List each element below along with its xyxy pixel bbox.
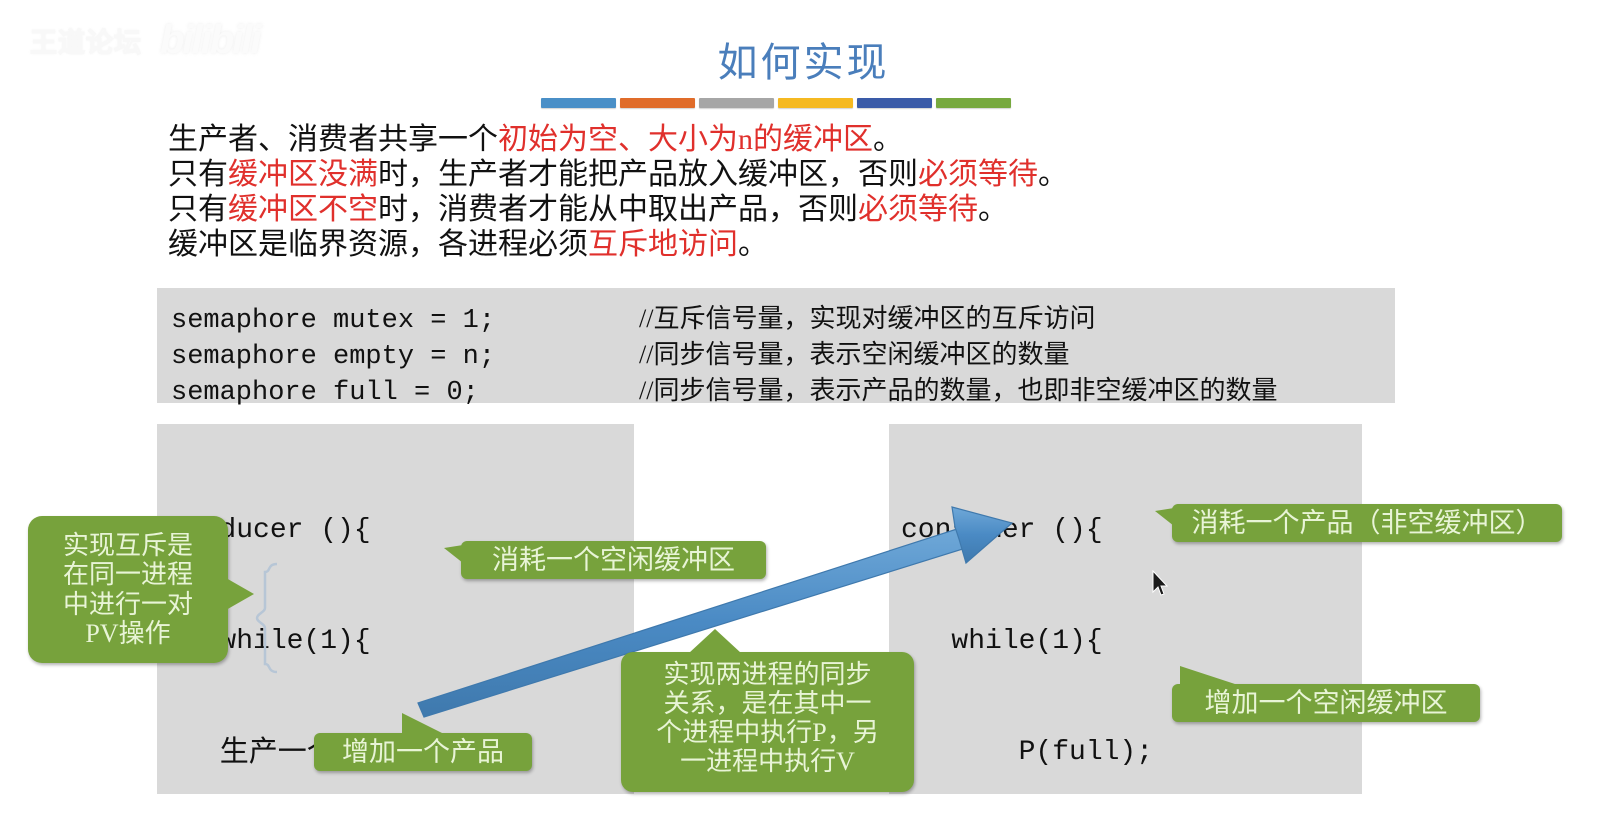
consumer-line-2: P(full); (901, 734, 1362, 771)
callout-consume-product: 消耗一个产品（非空缓冲区） (1172, 504, 1562, 542)
callout-mutex-line-1: 实现互斥是 (63, 531, 193, 560)
mutex-pair-brace-icon (253, 562, 279, 674)
semaphore-row-mutex: semaphore mutex = 1;//互斥信号量，实现对缓冲区的互斥访问 (171, 298, 1095, 336)
description-line-1: 生产者、消费者共享一个初始为空、大小为n的缓冲区。 (168, 122, 1068, 157)
semaphore-code-full: semaphore full = 0; (171, 378, 639, 408)
callout-tail (402, 713, 444, 734)
callout-mutex-line-3: 中进行一对 (63, 590, 193, 619)
semaphore-code-empty: semaphore empty = n; (171, 342, 639, 372)
callout-tail (1180, 666, 1238, 685)
callout-sync-line-3: 个进程中执行P，另 (656, 718, 878, 747)
semaphore-row-full: semaphore full = 0;//同步信号量，表示产品的数量，也即非空缓… (171, 370, 1277, 408)
callout-sync-explanation: 实现两进程的同步 关系，是在其中一 个进程中执行P，另 一进程中执行V (621, 652, 914, 792)
callout-tail (689, 629, 741, 653)
accent-bar-5 (857, 98, 932, 108)
accent-bar-3 (699, 98, 774, 108)
accent-bar-4 (778, 98, 853, 108)
callout-sync-line-4: 一进程中执行V (656, 747, 878, 776)
callout-full-label: 消耗一个产品（非空缓冲区） (1192, 508, 1543, 538)
consumer-code-block: consumer (){ while(1){ P(full); P(mutex)… (889, 424, 1362, 794)
semaphore-comment-empty: //同步信号量，表示空闲缓冲区的数量 (639, 340, 1069, 369)
semaphore-row-empty: semaphore empty = n;//同步信号量，表示空闲缓冲区的数量 (171, 334, 1069, 372)
callout-tail (1155, 508, 1174, 526)
callout-add-product-label: 增加一个产品 (342, 737, 504, 767)
title-accent-bars (541, 98, 1011, 108)
mouse-cursor-icon (1152, 570, 1172, 600)
producer-line-1: while(1){ (169, 623, 634, 660)
accent-bar-1 (541, 98, 616, 108)
callout-sync-line-1: 实现两进程的同步 (656, 660, 878, 689)
description-line-2: 只有缓冲区没满时，生产者才能把产品放入缓冲区，否则必须等待。 (168, 157, 1068, 192)
callout-mutex-line-2: 在同一进程 (63, 560, 193, 589)
semaphore-comment-mutex: //互斥信号量，实现对缓冲区的互斥访问 (639, 304, 1095, 333)
callout-free-label: 增加一个空闲缓冲区 (1205, 688, 1448, 718)
callout-tail (444, 545, 463, 563)
callout-mutex-line-4: PV操作 (63, 619, 193, 648)
description-line-3: 只有缓冲区不空时，消费者才能从中取出产品，否则必须等待。 (168, 192, 1068, 227)
callout-tail (226, 578, 254, 610)
callout-add-free-buffer: 增加一个空闲缓冲区 (1172, 684, 1480, 722)
callout-empty-label: 消耗一个空闲缓冲区 (492, 545, 735, 575)
consumer-line-1: while(1){ (901, 623, 1362, 660)
page-title: 如何实现 (0, 30, 1607, 88)
semaphore-code-mutex: semaphore mutex = 1; (171, 306, 639, 336)
accent-bar-6 (936, 98, 1011, 108)
slide-canvas: 王道论坛 bilibili 如何实现 生产者、消费者共享一个初始为空、大小为n的… (0, 0, 1607, 834)
callout-mutex-explanation: 实现互斥是 在同一进程 中进行一对 PV操作 (28, 516, 228, 663)
callout-sync-line-2: 关系，是在其中一 (656, 689, 878, 718)
semaphore-comment-full: //同步信号量，表示产品的数量，也即非空缓冲区的数量 (639, 376, 1277, 405)
accent-bar-2 (620, 98, 695, 108)
callout-add-product: 增加一个产品 (314, 733, 532, 771)
problem-description: 生产者、消费者共享一个初始为空、大小为n的缓冲区。 只有缓冲区没满时，生产者才能… (168, 122, 1068, 262)
description-line-4: 缓冲区是临界资源，各进程必须互斥地访问。 (168, 227, 1068, 262)
callout-consume-free-buffer: 消耗一个空闲缓冲区 (461, 541, 766, 579)
semaphore-declaration-block: semaphore mutex = 1;//互斥信号量，实现对缓冲区的互斥访问 … (157, 288, 1395, 403)
